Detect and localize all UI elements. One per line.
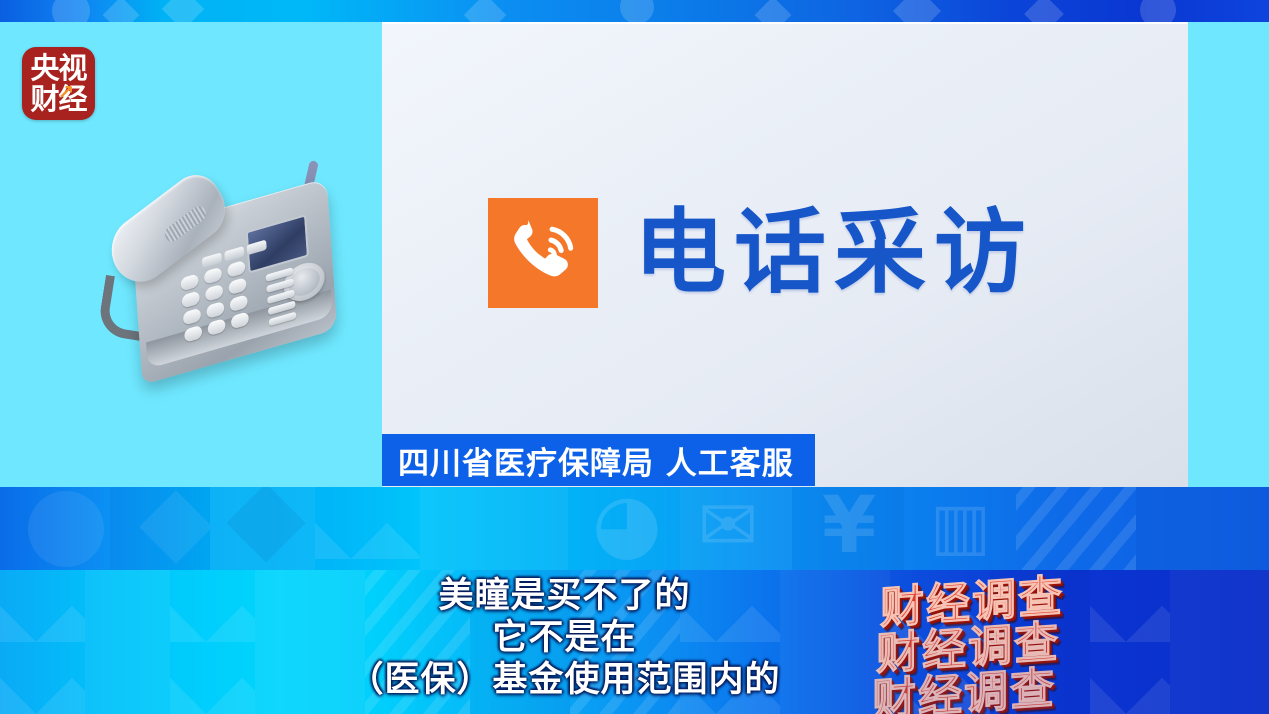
top-bar-shape (1140, 0, 1176, 22)
envelope-glyph: ✉ (698, 489, 758, 561)
mosaic-tile (0, 570, 85, 714)
interview-panel: 电话采访 (382, 22, 1188, 487)
mosaic-tile (85, 570, 170, 714)
mosaic-tile (420, 487, 568, 570)
bar-chart-glyph: ▥ (930, 495, 990, 559)
triangle-glyph (139, 490, 210, 564)
mosaic-tile: ¥ (792, 487, 904, 570)
top-bar-shape (620, 0, 654, 22)
mosaic-tile (680, 570, 780, 714)
interview-source-text: 四川省医疗保障局 人工客服 (398, 438, 794, 483)
lower-third-bottom-row (0, 570, 1269, 714)
top-gradient-bar (0, 0, 1269, 22)
mosaic-tile (570, 570, 680, 714)
top-bar-shape (893, 0, 941, 22)
logo-line-2: 财经 ↗ (30, 85, 86, 114)
lower-third-top-row: ◕ ✉ ¥ ▥ (0, 487, 1269, 570)
mosaic-tile (255, 570, 365, 714)
interview-title: 电话采访 (634, 207, 1034, 299)
top-bar-shape (162, 0, 204, 22)
mosaic-tile (470, 570, 570, 714)
top-bar-shape (52, 0, 90, 22)
mosaic-tile (1170, 570, 1269, 714)
broadcast-frame: 央视 财经 ↗ (0, 0, 1269, 714)
yen-glyph: ¥ (822, 487, 876, 565)
mosaic-tile (315, 487, 420, 570)
mosaic-tile: ▥ (904, 487, 1016, 570)
cctv-finance-logo: 央视 财经 ↗ (22, 47, 95, 120)
top-bar-shape (464, 0, 506, 22)
mosaic-tile (210, 487, 315, 570)
mosaic-tile (1016, 487, 1136, 570)
mosaic-tile (365, 570, 470, 714)
mosaic-tile (0, 487, 110, 570)
mosaic-tile (990, 570, 1090, 714)
mosaic-tile (780, 570, 890, 714)
top-bar-shape (755, 0, 792, 22)
mosaic-tile (170, 570, 255, 714)
phone-side-keys (266, 266, 303, 334)
pie-chart-glyph: ◕ (592, 487, 662, 563)
mosaic-tile: ✉ (680, 487, 792, 570)
top-bar-shape (1024, 0, 1064, 22)
stage-left-field: 央视 财经 ↗ (0, 22, 382, 487)
lower-third-band: ◕ ✉ ¥ ▥ (0, 487, 1269, 714)
phone-call-icon (488, 198, 598, 308)
mosaic-tile (110, 487, 210, 570)
mosaic-tile: ◕ (568, 487, 680, 570)
desk-telephone-photo (84, 156, 358, 400)
interview-title-row: 电话采访 (488, 198, 1034, 308)
circle-glyph (28, 491, 104, 567)
mosaic-tile (890, 570, 990, 714)
interview-source-label: 四川省医疗保障局 人工客服 (382, 434, 815, 486)
mosaic-tile (1090, 570, 1170, 714)
diamond-glyph (226, 487, 305, 563)
stage-right-field (1188, 22, 1269, 487)
mosaic-tile (1136, 487, 1269, 570)
logo-line-1: 央视 (30, 54, 86, 83)
top-bar-shape (103, 0, 140, 22)
